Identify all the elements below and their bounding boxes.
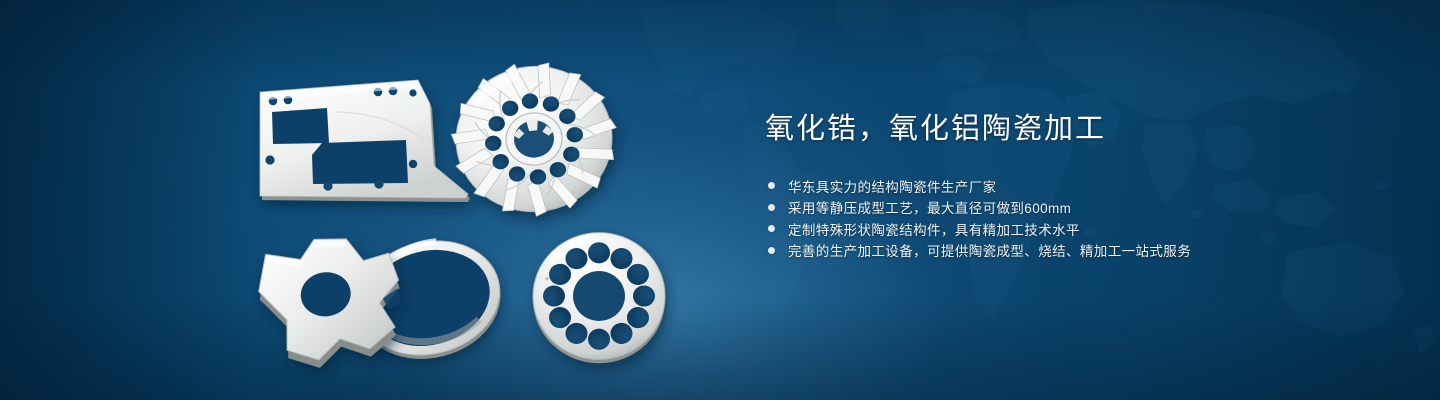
bullet-dot-icon xyxy=(768,225,775,232)
page-title: 氧化锆，氧化铝陶瓷加工 xyxy=(765,112,1385,147)
list-item: 定制特殊形状陶瓷结构件，具有精加工技术水平 xyxy=(765,218,1385,240)
product-ceramic-impeller xyxy=(442,53,624,225)
product-photo-group xyxy=(0,0,760,400)
list-item-label: 华东具实力的结构陶瓷件生产厂家 xyxy=(788,176,997,196)
list-item-label: 完善的生产加工设备，可提供陶瓷成型、烧结、精加工一站式服务 xyxy=(788,240,1191,260)
list-item: 采用等静压成型工艺，最大直径可做到600mm xyxy=(765,196,1385,218)
banner-text-block: 氧化锆，氧化铝陶瓷加工 华东具实力的结构陶瓷件生产厂家 采用等静压成型工艺，最大… xyxy=(765,112,1385,261)
list-item: 华东具实力的结构陶瓷件生产厂家 xyxy=(765,175,1385,197)
bullet-dot-icon xyxy=(768,182,775,189)
product-ceramic-plate xyxy=(260,80,470,202)
product-ceramic-cross-part xyxy=(253,229,409,375)
product-ceramic-perforated-disc xyxy=(533,233,665,364)
list-item-label: 采用等静压成型工艺，最大直径可做到600mm xyxy=(788,197,1071,217)
bullet-dot-icon xyxy=(768,247,775,254)
hero-banner: 氧化锆，氧化铝陶瓷加工 华东具实力的结构陶瓷件生产厂家 采用等静压成型工艺，最大… xyxy=(0,0,1440,400)
bullet-dot-icon xyxy=(768,204,775,211)
list-item-label: 定制特殊形状陶瓷结构件，具有精加工技术水平 xyxy=(788,219,1080,239)
feature-list: 华东具实力的结构陶瓷件生产厂家 采用等静压成型工艺，最大直径可做到600mm 定… xyxy=(765,175,1385,261)
list-item: 完善的生产加工设备，可提供陶瓷成型、烧结、精加工一站式服务 xyxy=(765,239,1385,261)
